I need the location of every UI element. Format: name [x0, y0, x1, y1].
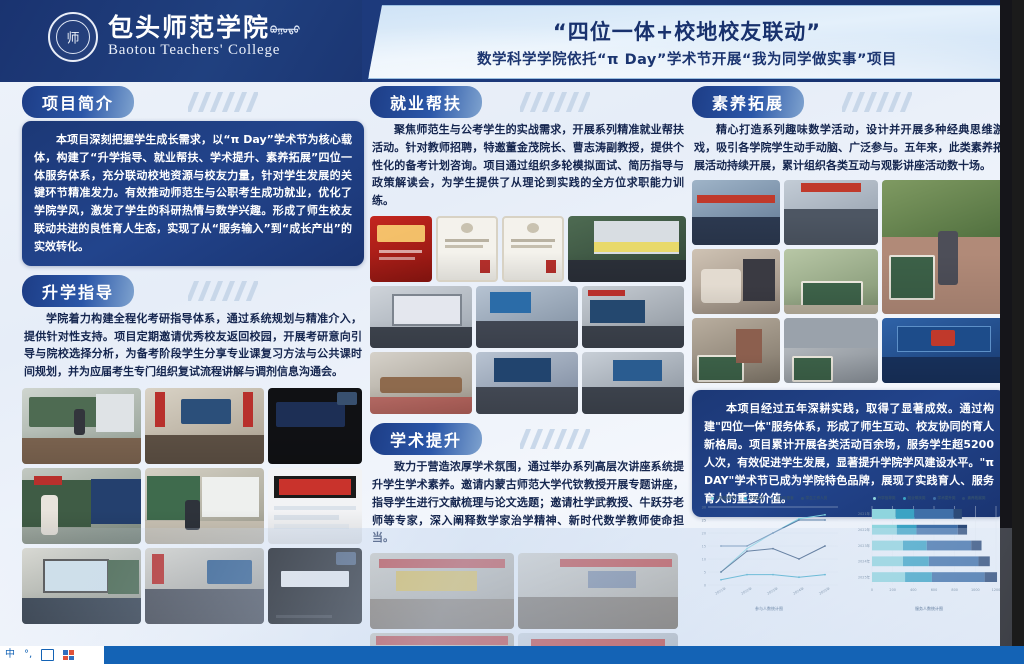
svg-text:30: 30 [702, 505, 706, 509]
svg-text:0: 0 [704, 583, 706, 587]
photo-academic-meeting-1 [370, 553, 514, 629]
toolbox-icon[interactable] [63, 650, 74, 660]
svg-text:10: 10 [702, 557, 706, 561]
line-chart-plot: 0510152025302021年2022年2023年2024年2025年 [692, 503, 842, 599]
photo-lecture-hall-1 [476, 286, 578, 348]
svg-text:15: 15 [702, 544, 706, 548]
bar-chart-legend: 升学指导类 就业帮扶类 学术提升类 素养拓展类 [852, 496, 1006, 501]
quality-paragraph: 精心打造系列趣味数学活动，设计并开展多种经典思维游戏，吸引各学院学生动手动脑、广… [694, 121, 1004, 174]
photo-conference-stage [692, 180, 780, 245]
poster-header: 包头师范学院ᠪᠤᠭᠤᠲᠤ Baotou Teachers' College “四… [0, 0, 1012, 82]
photo-group-outdoor [784, 180, 878, 245]
svg-text:2022年: 2022年 [740, 585, 753, 595]
academic-badge-row: 学术提升 [370, 423, 686, 453]
photo-outdoor-activity [692, 318, 780, 383]
photo-student-presentation [145, 468, 264, 544]
badge-stripes [188, 281, 258, 301]
svg-text:1000: 1000 [971, 588, 980, 592]
svg-text:2025年: 2025年 [858, 574, 871, 579]
intro-badge-row: 项目简介 [22, 86, 364, 116]
legend-item: 学院邀请院长 [711, 496, 738, 501]
legend-item: 升学指导类 [873, 496, 896, 501]
ime-toolbar[interactable]: 中 °, [0, 646, 104, 664]
further-study-photo-grid [22, 388, 364, 624]
legend-label: 学院邀请院长 [716, 496, 738, 501]
middle-column: 就业帮扶 聚焦师范生与公考学生的实战需求，开展系列精准就业帮扶活动。针对教师招聘… [370, 86, 686, 648]
badge-stripes [188, 92, 258, 112]
legend-item: 外援嘉宾 [744, 496, 763, 501]
photo-document-screenshot [268, 468, 362, 544]
legend-item: 校友反馈者 [771, 496, 794, 501]
section-badge-quality: 素养拓展 [692, 86, 804, 118]
header-logo-panel: 包头师范学院ᠪᠤᠭᠤᠲᠤ Baotou Teachers' College [0, 0, 362, 82]
svg-text:200: 200 [889, 588, 895, 592]
legend-item: 学生工作人员 [801, 496, 828, 501]
svg-text:2024年: 2024年 [858, 559, 871, 564]
header-title-banner: “四位一体+校地校友联动” 数学科学学院依托“π Day”学术节开展“我为同学做… [368, 5, 1006, 79]
line-chart: 学院邀请院长 外援嘉宾 校友反馈者 学生工作人员 051015202530202… [692, 496, 846, 626]
svg-text:2024年: 2024年 [792, 585, 805, 595]
taskbar: 中 °, [0, 646, 1024, 664]
university-name-cn: 包头师范学院ᠪᠤᠭᠤᠲᠤ [108, 15, 300, 41]
employment-photo-row-2 [370, 286, 686, 348]
screen: 包头师范学院ᠪᠤᠭᠤᠲᠤ Baotou Teachers' College “四… [0, 0, 1024, 664]
photo-workshop-audience [582, 352, 684, 414]
svg-text:2023年: 2023年 [858, 543, 871, 548]
photo-auditorium-projection [476, 352, 578, 414]
svg-text:2025年: 2025年 [818, 585, 831, 595]
line-chart-legend: 学院邀请院长 外援嘉宾 校友反馈者 学生工作人员 [692, 496, 846, 501]
banner-subtitle: 数学科学学院依托“π Day”学术节开展“我为同学做实事”项目 [477, 48, 897, 69]
quality-photo-grid [692, 180, 1006, 383]
photo-roundtable-discussion [370, 352, 472, 414]
photo-speaker-screen [582, 286, 684, 348]
university-name-mongolian: ᠪᠤᠭᠤᠲᠤ [270, 27, 300, 36]
screen-edge-right [1000, 0, 1012, 648]
svg-text:0: 0 [871, 588, 873, 592]
intro-paragraph: 本项目深刻把握学生成长需求，以“π Day”学术节为核心载体，构建了“升学指导、… [34, 131, 352, 256]
photo-students-blackboard [784, 249, 878, 314]
poster-canvas: 包头师范学院ᠪᠤᠭᠤᠲᠤ Baotou Teachers' College “四… [0, 0, 1012, 648]
photo-seminar-room [145, 388, 264, 464]
svg-text:25: 25 [702, 518, 706, 522]
employment-badge-row: 就业帮扶 [370, 86, 686, 116]
line-chart-title: 参与人数统计图 [692, 606, 846, 612]
photo-certificate-2 [502, 216, 564, 282]
svg-text:800: 800 [951, 588, 957, 592]
keyboard-icon[interactable] [41, 649, 54, 661]
section-badge-further-study: 升学指导 [22, 275, 134, 307]
quality-badge-row: 素养拓展 [692, 86, 1006, 116]
svg-text:5: 5 [704, 570, 706, 574]
employment-paragraph: 聚焦师范生与公考学生的实战需求，开展系列精准就业帮扶活动。针对教师招聘，特邀董金… [372, 121, 684, 210]
badge-stripes [842, 92, 912, 112]
photo-hands-on-game [692, 249, 780, 314]
legend-label: 学术提升类 [938, 496, 956, 501]
further-study-badge-row: 升学指导 [22, 275, 364, 305]
charts-area: 学院邀请院长 外援嘉宾 校友反馈者 学生工作人员 051015202530202… [692, 496, 1006, 626]
university-name-en: Baotou Teachers' College [108, 42, 300, 59]
svg-text:400: 400 [910, 588, 916, 592]
photo-certificate-1 [436, 216, 498, 282]
right-column: 素养拓展 精心打造系列趣味数学活动，设计并开展多种经典思维游戏，吸引各学院学生动… [692, 86, 1006, 517]
photo-online-meeting-dark [268, 388, 362, 464]
photo-video-dark [268, 548, 362, 624]
intro-text-box: 本项目深刻把握学生成长需求，以“π Day”学术节为核心载体，构建了“升学指导、… [22, 121, 364, 266]
university-name-cn-text: 包头师范学院 [108, 13, 270, 42]
svg-text:2023年: 2023年 [766, 585, 779, 595]
legend-label: 就业帮扶类 [908, 496, 926, 501]
employment-photo-row-1 [370, 216, 686, 282]
bar-chart-plot: 0200400600800100012002021年2022年2023年2024… [852, 503, 1002, 599]
academic-paragraph: 致力于营造浓厚学术氛围，通过举办系列高层次讲座系统提升学生学术素养。邀请内蒙古师… [372, 458, 684, 547]
photo-campus-activity-large [882, 180, 1004, 314]
legend-label: 素养拓展类 [967, 496, 985, 501]
photo-projector-lecture [22, 548, 141, 624]
legend-label: 升学指导类 [878, 496, 896, 501]
legend-item: 素养拓展类 [962, 496, 985, 501]
legend-label: 校友反馈者 [776, 496, 794, 501]
photo-academic-meeting-2 [518, 553, 678, 629]
photo-teacher-blackboard [22, 468, 141, 544]
chinese-ime-icon[interactable]: 中 [5, 650, 15, 660]
legend-label: 外援嘉宾 [749, 496, 763, 501]
legend-item: 就业帮扶类 [903, 496, 926, 501]
svg-text:2021年: 2021年 [714, 585, 727, 595]
further-study-paragraph: 学院着力构建全程化考研指导体系，通过系统规划与精准介入，提供针对性支持。项目定期… [24, 310, 362, 381]
badge-stripes [520, 92, 590, 112]
svg-text:2021年: 2021年 [858, 511, 871, 516]
section-badge-employment: 就业帮扶 [370, 86, 482, 118]
svg-text:2022年: 2022年 [858, 527, 871, 532]
banner-title: “四位一体+校地校友联动” [553, 16, 821, 46]
photo-large-audience [145, 548, 264, 624]
legend-item: 学术提升类 [933, 496, 956, 501]
bar-chart-title: 服务人数统计图 [852, 606, 1006, 612]
left-column: 项目简介 本项目深刻把握学生成长需求，以“π Day”学术节为核心载体，构建了“… [22, 86, 364, 624]
badge-stripes [520, 429, 590, 449]
photo-ceremony-hall [882, 318, 1004, 383]
section-badge-intro: 项目简介 [22, 86, 134, 118]
conclusion-paragraph: 本项目经过五年深耕实践，取得了显著成效。通过构建"四位一体"服务体系，形成了师生… [704, 400, 994, 507]
section-badge-academic: 学术提升 [370, 423, 482, 455]
photo-crowd-activity [784, 318, 878, 383]
legend-label: 学生工作人员 [806, 496, 828, 501]
bar-chart: 升学指导类 就业帮扶类 学术提升类 素养拓展类 0200400600800100… [852, 496, 1006, 626]
photo-classroom-projection [568, 216, 686, 282]
university-seal-icon [48, 12, 98, 62]
photo-interview-room [370, 286, 472, 348]
employment-photo-row-3 [370, 352, 686, 414]
svg-text:20: 20 [702, 531, 706, 535]
photo-lecture-classroom [22, 388, 141, 464]
svg-text:600: 600 [931, 588, 937, 592]
academic-photo-grid [370, 553, 686, 648]
punctuation-icon[interactable]: °, [24, 650, 32, 660]
university-logo: 包头师范学院ᠪᠤᠭᠤᠲᠤ Baotou Teachers' College [48, 12, 300, 62]
photo-red-poster [370, 216, 432, 282]
